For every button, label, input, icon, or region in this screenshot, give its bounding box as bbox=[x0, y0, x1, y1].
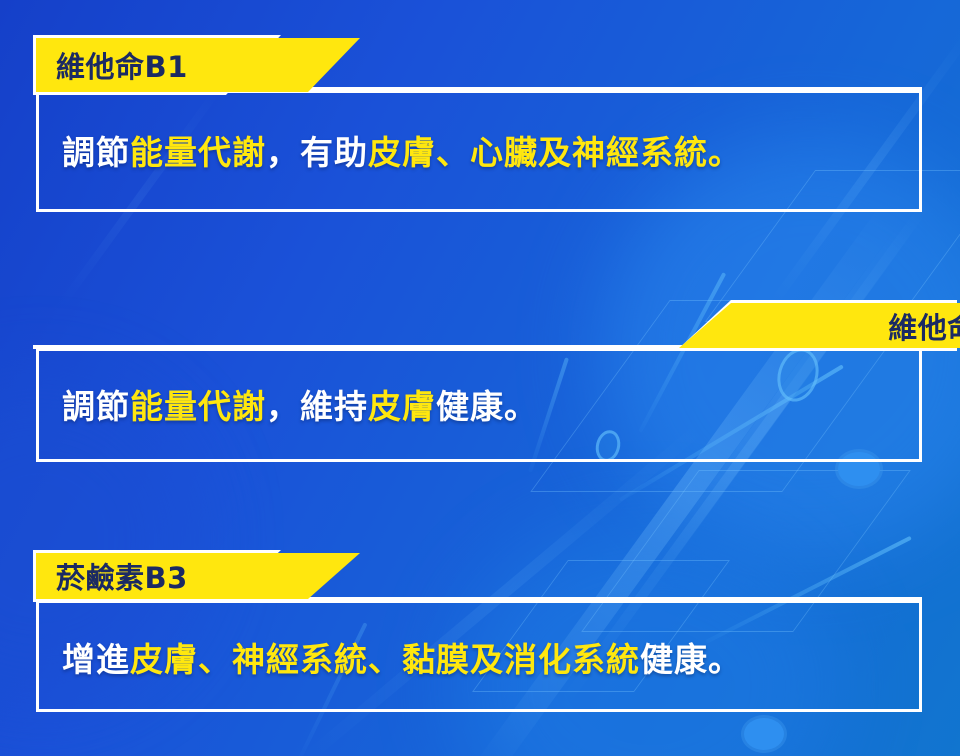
card-tab-label: 維他命B2 bbox=[888, 305, 960, 347]
text-segment-plain: ，維持 bbox=[266, 387, 368, 426]
card-body-text-vitamin-b2: 調節能量代謝，維持皮膚健康。 bbox=[62, 380, 538, 428]
text-segment-highlight: 。 bbox=[708, 133, 742, 172]
background-circuit-node bbox=[744, 718, 784, 750]
card-tab-vitamin-b1[interactable]: 維他命B1 bbox=[36, 38, 360, 92]
slide-canvas: 維他命B1 調節能量代謝，有助皮膚、心臟及神經系統。 維他命B2 調節能量代謝，… bbox=[0, 0, 960, 756]
text-segment-highlight: 皮膚、心臟及神經系統 bbox=[368, 133, 708, 172]
text-segment-plain: 調節 bbox=[62, 387, 130, 426]
card-tab-niacin-b3[interactable]: 菸鹼素B3 bbox=[36, 553, 360, 599]
card-body-text-niacin-b3: 增進皮膚、神經系統、黏膜及消化系統健康。 bbox=[62, 633, 742, 681]
card-tab-label: 維他命B1 bbox=[56, 44, 188, 86]
card-tab-label: 菸鹼素B3 bbox=[56, 555, 188, 597]
text-segment-plain: 調節 bbox=[62, 133, 130, 172]
text-segment-highlight: 皮膚、神經系統、黏膜及消化系統 bbox=[130, 640, 640, 679]
text-segment-highlight: 皮膚 bbox=[368, 387, 436, 426]
text-segment-plain: 增進 bbox=[62, 640, 130, 679]
text-segment-plain: 健康。 bbox=[640, 640, 742, 679]
text-segment-plain: 健康。 bbox=[436, 387, 538, 426]
text-segment-highlight: 能量代謝 bbox=[130, 387, 266, 426]
card-body-text-vitamin-b1: 調節能量代謝，有助皮膚、心臟及神經系統。 bbox=[62, 126, 742, 174]
text-segment-highlight: 能量代謝 bbox=[130, 133, 266, 172]
text-segment-plain: ，有助 bbox=[266, 133, 368, 172]
